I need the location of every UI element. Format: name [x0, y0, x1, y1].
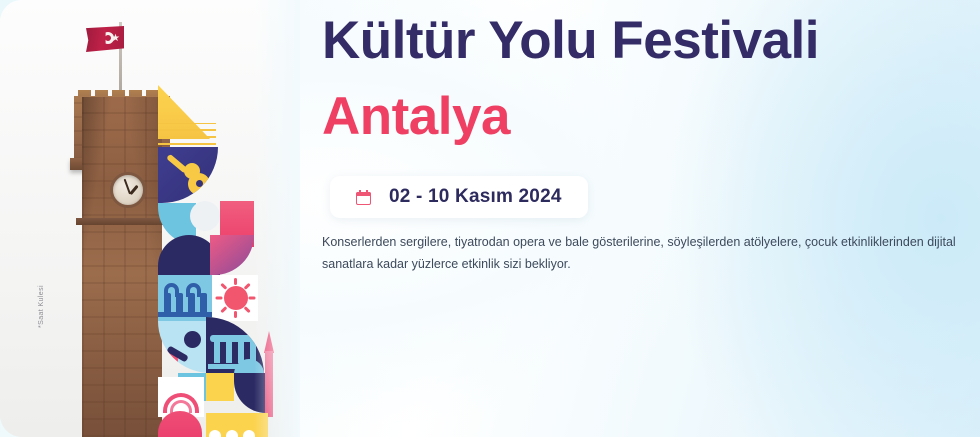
white-circle-shape [190, 201, 220, 231]
clock-face [110, 172, 146, 208]
date-range-label: 02 - 10 Kasım 2024 [389, 186, 562, 208]
panel-fade [254, 0, 300, 437]
festival-city: Antalya [322, 88, 510, 146]
flag-star-icon: ★ [111, 34, 120, 44]
sun-icon [212, 275, 258, 321]
festival-description: Konserlerden sergilere, tiyatrodan opera… [322, 232, 956, 276]
photo-caption: *Saat Kulesi [38, 285, 45, 328]
microphone-icon [158, 321, 210, 373]
visual-panel: ★ *Saat Kulesi [0, 0, 300, 437]
water-waves-icon [158, 123, 216, 145]
yellow-square-shape [206, 373, 234, 401]
date-badge[interactable]: 02 - 10 Kasım 2024 [330, 176, 588, 218]
pink-wedge-shape [210, 235, 254, 275]
banner-content: Kültür Yolu Festivali Antalya 02 - 10 Ka… [322, 0, 962, 437]
guitar-icon [158, 147, 218, 203]
calendar-icon [356, 190, 371, 205]
ancient-ruins-icon [158, 275, 216, 321]
festival-title: Kültür Yolu Festivali [322, 12, 819, 70]
festival-banner: ★ *Saat Kulesi [0, 0, 980, 437]
